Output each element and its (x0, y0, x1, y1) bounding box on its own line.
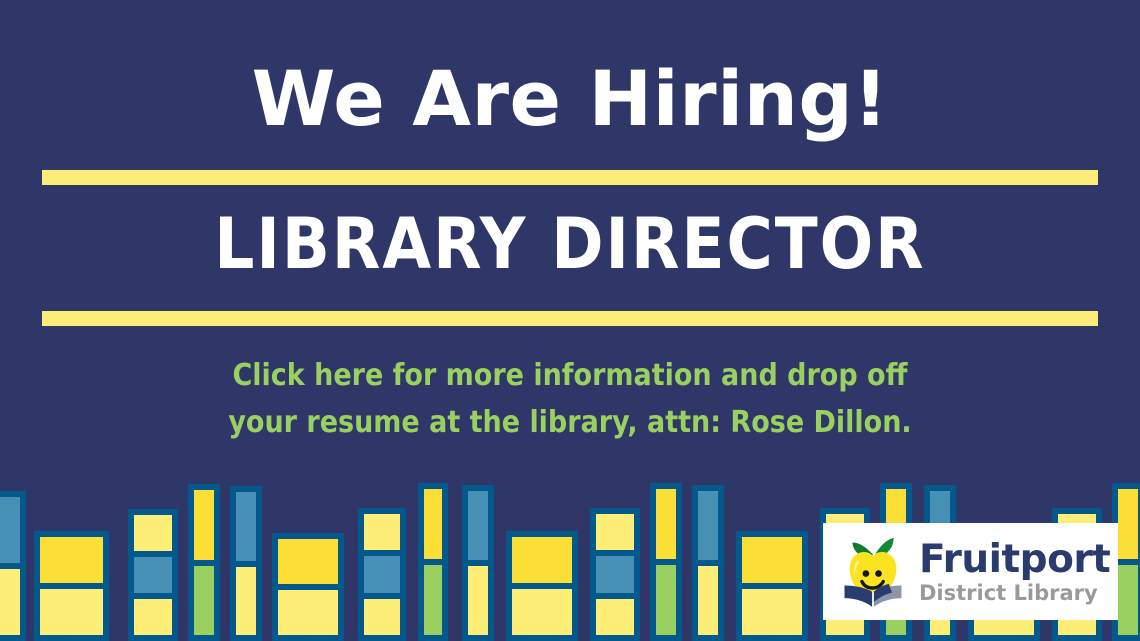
book-segment (40, 589, 103, 635)
book-segment (194, 490, 214, 560)
book-segment (596, 599, 634, 635)
book-spine (230, 486, 262, 641)
apple-open-book-icon (833, 534, 913, 610)
book-segment (512, 589, 572, 635)
book-spine (358, 508, 406, 641)
book-segment (134, 557, 172, 593)
hiring-poster: We Are Hiring! LIBRARY DIRECTOR Click he… (0, 0, 1140, 641)
book-segment (596, 514, 634, 550)
page-title: We Are Hiring! (0, 56, 1140, 142)
logo-wordmark: Fruitport District Library (919, 540, 1110, 604)
book-spine (128, 509, 178, 641)
cta-line-1: Click here for more information and drop… (0, 352, 1140, 399)
book-segment (236, 492, 256, 561)
book-segment (364, 556, 400, 592)
book-segment (134, 515, 172, 551)
book-segment (364, 599, 400, 635)
divider-top (42, 170, 1098, 185)
book-segment (596, 556, 634, 592)
book-spine (736, 531, 808, 641)
book-segment (236, 567, 256, 636)
library-logo[interactable]: Fruitport District Library (823, 523, 1118, 620)
book-segment (278, 590, 338, 635)
logo-tagline: District Library (919, 583, 1110, 604)
book-spine (462, 485, 494, 641)
book-segment (1118, 489, 1138, 559)
book-segment (468, 491, 488, 560)
call-to-action-text[interactable]: Click here for more information and drop… (0, 352, 1140, 446)
headline-block: We Are Hiring! LIBRARY DIRECTOR Click he… (0, 0, 1140, 470)
book-segment (0, 497, 20, 563)
book-spine (34, 531, 109, 641)
book-segment (424, 489, 442, 559)
book-segment (512, 537, 572, 583)
book-segment (278, 539, 338, 584)
book-segment (468, 566, 488, 635)
position-title: LIBRARY DIRECTOR (0, 196, 1140, 292)
book-segment (656, 565, 676, 635)
book-spine (650, 483, 682, 641)
book-segment (698, 566, 718, 635)
book-spine (506, 531, 578, 641)
divider-bottom (42, 311, 1098, 326)
book-spine (418, 483, 448, 641)
book-segment (424, 565, 442, 635)
book-segment (656, 489, 676, 559)
book-segment (0, 569, 20, 635)
book-segment (194, 566, 214, 636)
book-segment (134, 599, 172, 635)
book-spine (188, 484, 220, 641)
book-segment (698, 491, 718, 560)
book-segment (40, 537, 103, 583)
logo-name: Fruitport (919, 540, 1110, 579)
book-segment (742, 537, 802, 583)
book-segment (364, 514, 400, 550)
book-spine (272, 533, 344, 641)
book-segment (1118, 565, 1138, 635)
book-spine (0, 491, 26, 641)
cta-line-2: your resume at the library, attn: Rose D… (0, 399, 1140, 446)
book-segment (742, 589, 802, 635)
book-spine (692, 485, 724, 641)
book-spine (590, 508, 640, 641)
